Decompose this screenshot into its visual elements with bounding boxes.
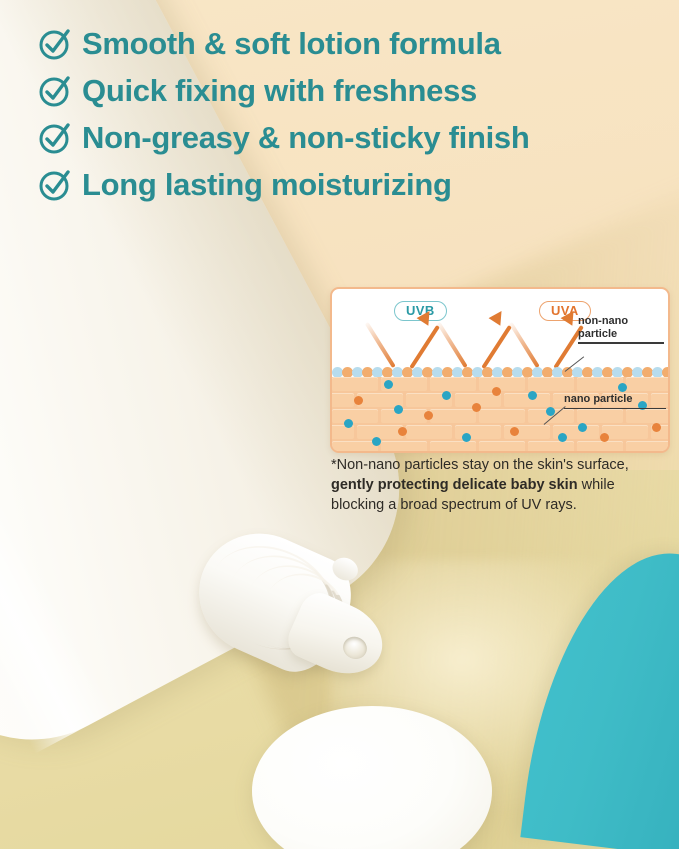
- brick: [406, 425, 452, 439]
- callout-nano-label: nano particle: [564, 393, 666, 406]
- tube-label-line1: SUN: [0, 357, 5, 383]
- benefit-label: Smooth & soft lotion formula: [82, 26, 501, 62]
- nano-particle: [472, 403, 481, 412]
- benefit-label: Long lasting moisturizing: [82, 167, 452, 203]
- brick: [577, 441, 623, 451]
- nano-particle: [528, 391, 537, 400]
- brick: [430, 441, 476, 451]
- brick: [332, 377, 378, 391]
- skin-brick-layer: [332, 377, 668, 451]
- tube-label-line2: WATERFUL: [0, 321, 5, 358]
- benefit-label: Quick fixing with freshness: [82, 73, 477, 109]
- nano-particle: [354, 396, 363, 405]
- check-circle-icon: [38, 74, 72, 108]
- brick: [332, 393, 354, 407]
- brick: [528, 441, 574, 451]
- nano-particle: [600, 433, 609, 442]
- nano-particle: [394, 405, 403, 414]
- brick: [626, 441, 668, 451]
- uv-incoming-ray: [437, 322, 468, 368]
- benefits-list: Smooth & soft lotion formula Quick fixin…: [38, 26, 668, 214]
- brick: [479, 377, 525, 391]
- benefit-item: Smooth & soft lotion formula: [38, 26, 668, 62]
- uv-incoming-ray: [365, 322, 396, 368]
- nano-particle: [492, 387, 501, 396]
- brick: [430, 409, 476, 423]
- caption-part1: *Non-nano particles stay on the skin's s…: [331, 457, 629, 473]
- nano-particle: [344, 419, 353, 428]
- brick: [577, 377, 623, 391]
- uv-reflected-ray: [409, 325, 440, 369]
- brick: [528, 377, 574, 391]
- callout-non-nano: non-nano particle: [578, 315, 664, 344]
- product-marketing-image: SUN WATERFUL LOTION Smooth & soft lotion…: [0, 0, 679, 849]
- caption-bold: gently protecting delicate baby skin: [331, 477, 578, 493]
- brick-row: [332, 441, 668, 451]
- brick-row: [332, 409, 668, 423]
- callout-rule: [578, 342, 664, 343]
- brick: [626, 409, 668, 423]
- diagram-caption: *Non-nano particles stay on the skin's s…: [331, 455, 671, 515]
- nano-particle: [442, 391, 451, 400]
- uv-reflected-ray: [481, 325, 512, 369]
- callout-nano: nano particle: [564, 393, 666, 409]
- brick: [504, 393, 550, 407]
- brick: [626, 377, 668, 391]
- check-circle-icon: [38, 121, 72, 155]
- nano-particle: [384, 380, 393, 389]
- check-circle-icon: [38, 27, 72, 61]
- callout-rule: [564, 408, 666, 409]
- brick: [479, 441, 525, 451]
- brick: [381, 409, 427, 423]
- brick: [332, 409, 378, 423]
- nano-particle: [558, 433, 567, 442]
- callout-non-nano-line2: particle: [578, 328, 664, 341]
- brick: [479, 409, 525, 423]
- nano-particle: [652, 423, 661, 432]
- uv-incoming-ray: [509, 322, 540, 368]
- tube-label: SUN WATERFUL LOTION: [0, 295, 5, 384]
- nano-particle: [510, 427, 519, 436]
- brick: [332, 441, 378, 451]
- nano-particle: [578, 423, 587, 432]
- brick-row: [332, 425, 668, 439]
- benefit-item: Non-greasy & non-sticky finish: [38, 120, 668, 156]
- check-circle-icon: [38, 168, 72, 202]
- nano-particle: [372, 437, 381, 446]
- brick: [430, 377, 476, 391]
- nano-particle: [424, 411, 433, 420]
- brick: [357, 425, 403, 439]
- nano-particle: [462, 433, 471, 442]
- brick: [577, 409, 623, 423]
- brick: [381, 441, 427, 451]
- benefit-item: Long lasting moisturizing: [38, 167, 668, 203]
- benefit-item: Quick fixing with freshness: [38, 73, 668, 109]
- uv-arrowhead: [489, 307, 508, 326]
- callout-non-nano-line1: non-nano: [578, 315, 664, 328]
- uv-protection-diagram: UVB UVA non-nano particle nano particle: [330, 287, 670, 453]
- nano-particle: [618, 383, 627, 392]
- benefit-label: Non-greasy & non-sticky finish: [82, 120, 529, 156]
- nano-particle: [398, 427, 407, 436]
- tube-label-line3: LOTION: [0, 295, 5, 321]
